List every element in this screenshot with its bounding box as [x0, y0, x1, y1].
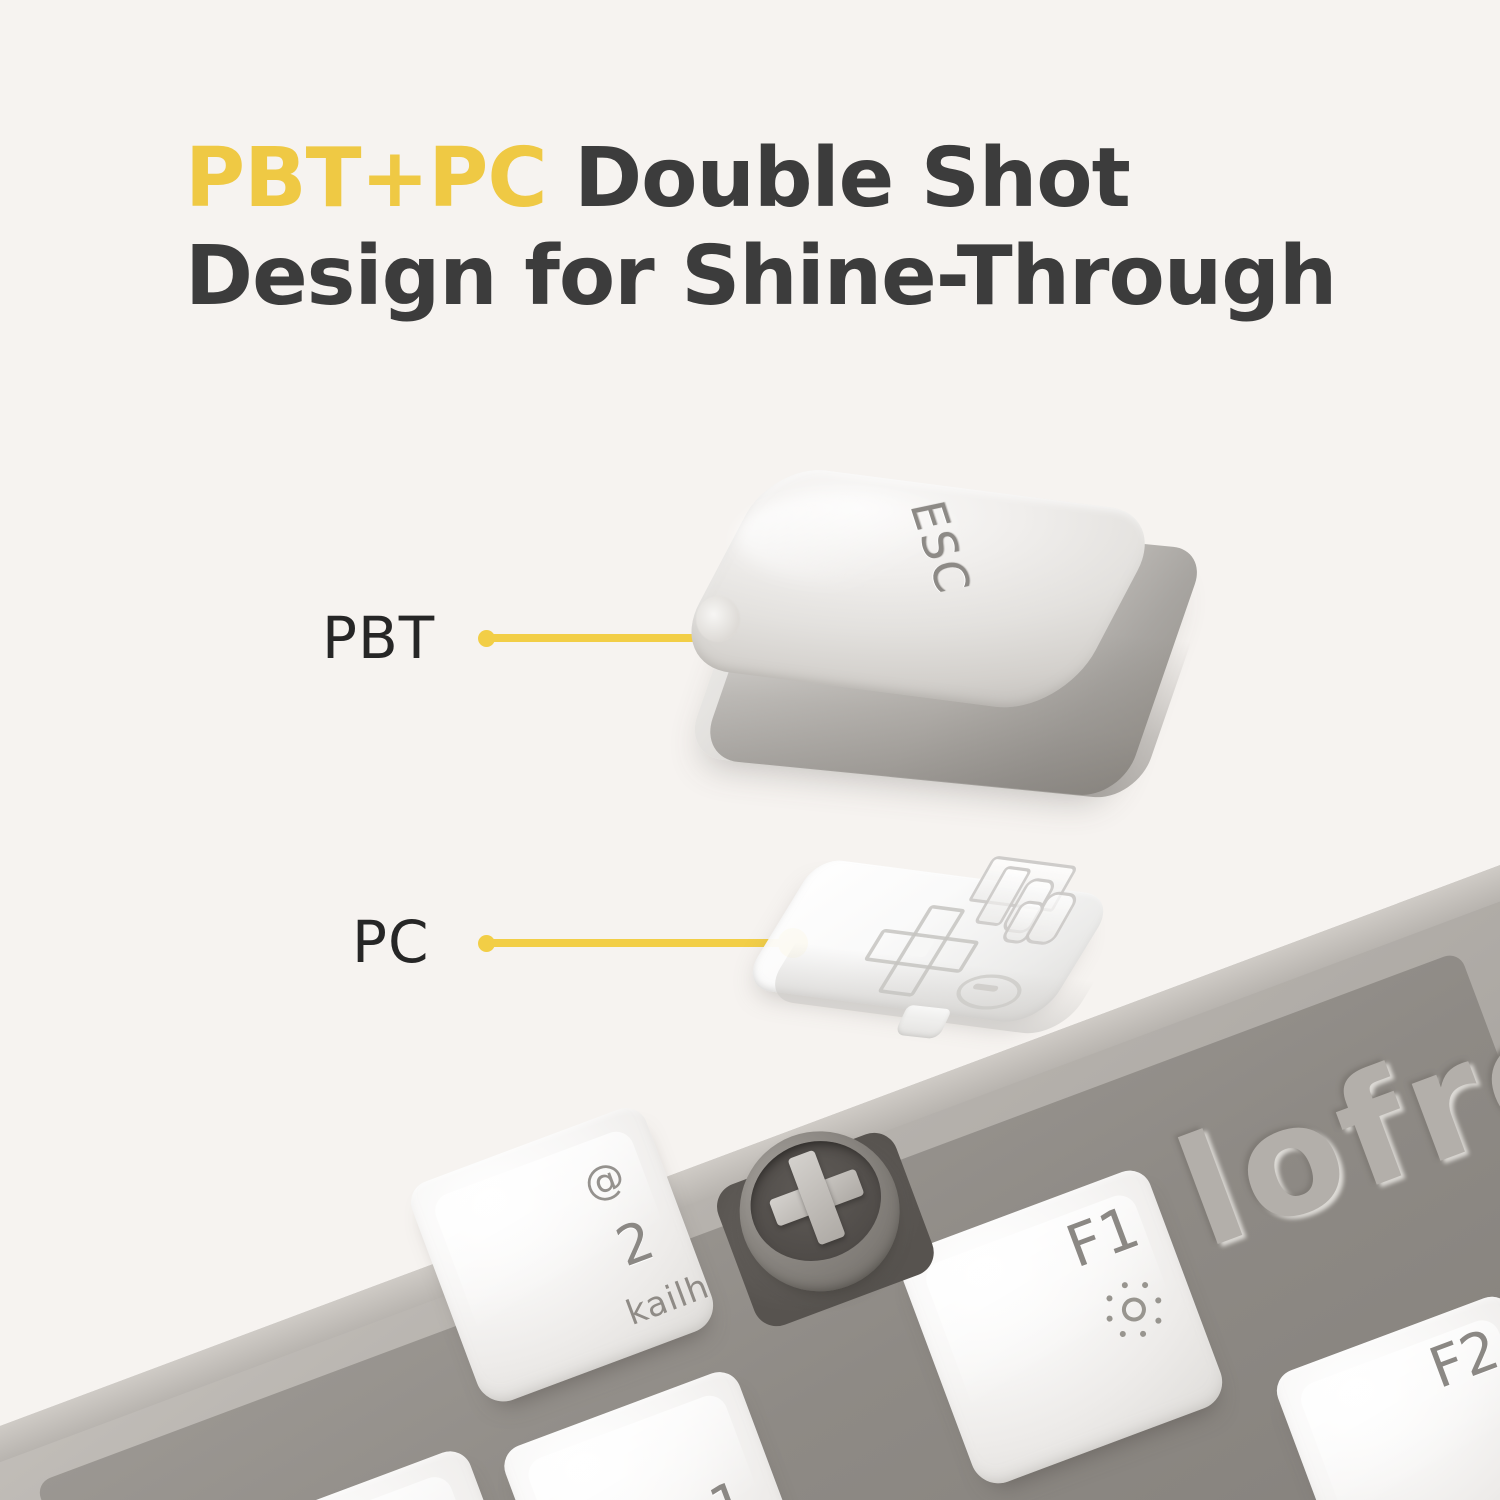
callout-label-pbt: PBT: [322, 604, 435, 672]
keycap-left-edge-highlight: [696, 596, 740, 642]
product-feature-image: PBT+PC Double Shot Design for Shine-Thro…: [0, 0, 1500, 1500]
leader-line-pc: [490, 939, 790, 947]
sun-ray: [1141, 1281, 1149, 1289]
sun-ray: [1155, 1317, 1163, 1325]
headline-accent: PBT+PC: [185, 131, 547, 226]
esc-keycap-pbt: ESC: [690, 470, 1210, 820]
sun-ray: [1106, 1315, 1114, 1323]
sun-ray: [1106, 1295, 1114, 1303]
page-title: PBT+PC Double Shot Design for Shine-Thro…: [185, 130, 1415, 326]
headline-line-2: Design for Shine-Through: [185, 228, 1415, 326]
headline-line-1: PBT+PC Double Shot: [185, 130, 1415, 228]
sun-ray: [1119, 1330, 1127, 1338]
headline-line-1-rest: Double Shot: [547, 131, 1130, 226]
leader-line-pbt: [490, 634, 720, 642]
sun-ray: [1121, 1281, 1129, 1289]
callout-label-pc: PC: [352, 908, 429, 976]
sun-core: [1118, 1294, 1149, 1325]
